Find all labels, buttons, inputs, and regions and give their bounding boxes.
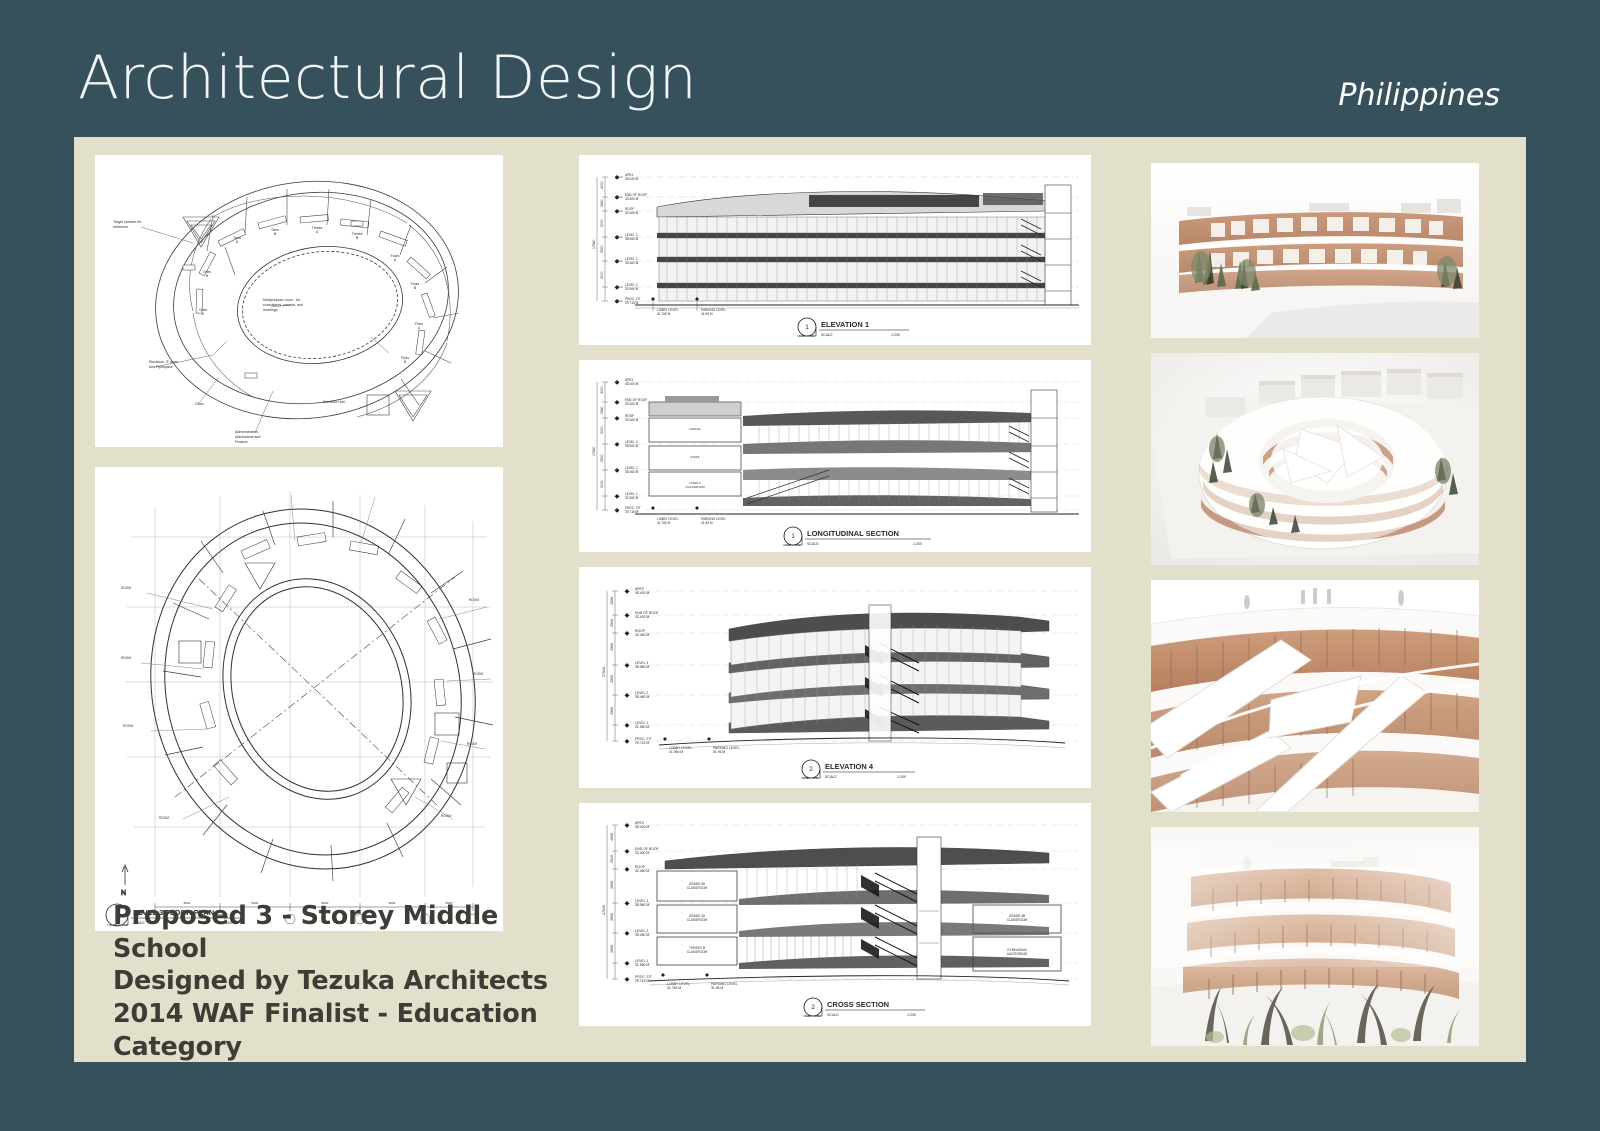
panel-longitudinal-section[interactable]: 4000 2940 3000 3500 3000 17640	[579, 360, 1091, 552]
svg-text:31.760 M: 31.760 M	[657, 312, 671, 316]
svg-text:3500: 3500	[610, 675, 614, 683]
svg-text:35.460 M: 35.460 M	[635, 695, 649, 699]
model-facade-landscape-image	[1151, 827, 1479, 1046]
svg-text:CLASSROOM: CLASSROOM	[687, 950, 708, 954]
svg-text:29.715 M: 29.715 M	[625, 510, 639, 514]
project-caption: Proposed 3 - Storey Middle School Design…	[113, 900, 573, 1063]
elevation-1-drawing: 4000 2940 3000 3500 3000 17640	[579, 155, 1091, 345]
panel-cross-section[interactable]: 4000 2940 3000 3500 3000 17640	[579, 803, 1091, 1026]
svg-text:3000: 3000	[610, 643, 614, 651]
svg-text:45.400 M: 45.400 M	[625, 382, 639, 386]
svg-text:35.460 M: 35.460 M	[635, 933, 649, 937]
svg-text:ROOM: ROOM	[121, 656, 131, 660]
svg-text:43.400 M: 43.400 M	[635, 851, 649, 855]
svg-text:4000: 4000	[600, 386, 604, 394]
svg-text:3500: 3500	[600, 245, 604, 253]
model-photos-column	[1151, 155, 1479, 1045]
svg-text:1:200: 1:200	[897, 775, 906, 779]
panel-level-3-floor-plan[interactable]: ROOM ROOM ROOM ROOM ROOM ROOM ROOM ROOM …	[95, 467, 503, 931]
svg-text:31.960 M: 31.960 M	[625, 496, 639, 500]
slide-header: Architectural Design Philippines	[0, 0, 1600, 140]
svg-text:SCALE: SCALE	[825, 775, 837, 779]
photo-model-courtyard-detail[interactable]	[1151, 580, 1479, 812]
plan-annotation-entrance-hall: Entrance Hall	[323, 400, 345, 404]
svg-text:ROOM: ROOM	[469, 598, 479, 602]
svg-text:35.460 M: 35.460 M	[625, 470, 639, 474]
upper-floor-plan-drawing: Target number for reference Multipurpose…	[95, 155, 503, 447]
svg-text:1: 1	[791, 533, 795, 540]
caption-line-1: Proposed 3 - Storey Middle School	[113, 900, 573, 965]
model-courtyard-detail-image	[1151, 580, 1479, 812]
svg-text:CLASSROOM: CLASSROOM	[1007, 918, 1028, 922]
svg-text:31.96 M: 31.96 M	[711, 986, 723, 990]
location-label: Philippines	[1338, 78, 1500, 113]
presentation-board: Target number for reference Multipurpose…	[74, 137, 1526, 1062]
longitudinal-section-drawing: 4000 2940 3000 3500 3000 17640	[579, 360, 1091, 552]
svg-text:1:200: 1:200	[913, 542, 922, 546]
svg-text:A-02: A-02	[809, 334, 815, 338]
svg-text:45.400 M: 45.400 M	[625, 177, 639, 181]
svg-text:3000: 3000	[610, 881, 614, 889]
svg-text:CROSS SECTION: CROSS SECTION	[827, 1000, 889, 1009]
svg-text:43.400 M: 43.400 M	[625, 197, 639, 201]
plan-annotation-multipurpose-3: meetings	[263, 308, 278, 312]
svg-text:17640: 17640	[602, 667, 606, 677]
svg-text:ROOM: ROOM	[467, 742, 477, 746]
model-aerial-courtyard-image	[1151, 353, 1479, 565]
caption-line-4: Category	[113, 1031, 573, 1064]
svg-text:SCALE: SCALE	[807, 542, 819, 546]
plan-annotation-electrical: Electrical, IT room	[149, 360, 178, 364]
photo-model-aerial-courtyard[interactable]	[1151, 353, 1479, 565]
svg-text:1: 1	[805, 324, 809, 331]
svg-text:29.715 M: 29.715 M	[625, 301, 639, 305]
caption-line-2: Designed by Tezuka Architects	[113, 965, 573, 998]
svg-text:ELEVATION 4: ELEVATION 4	[825, 762, 874, 771]
presentation-slide: Architectural Design Philippines	[0, 0, 1600, 1131]
svg-text:38.960 M: 38.960 M	[635, 665, 649, 669]
svg-text:42.460 M: 42.460 M	[635, 633, 649, 637]
svg-text:2940: 2940	[600, 406, 604, 414]
svg-text:N: N	[121, 890, 126, 897]
svg-text:43.400 M: 43.400 M	[635, 615, 649, 619]
svg-text:LONGITUDINAL SECTION: LONGITUDINAL SECTION	[807, 529, 899, 538]
svg-text:43.400 M: 43.400 M	[625, 402, 639, 406]
svg-text:3000: 3000	[610, 945, 614, 953]
svg-text:CLASSROOM: CLASSROOM	[685, 485, 705, 489]
plan-annotation-admin-2: Admissions and	[235, 435, 260, 439]
panel-upper-floor-plan[interactable]: Target number for reference Multipurpose…	[95, 155, 503, 447]
svg-text:3000: 3000	[600, 480, 604, 488]
cross-section-drawing: 4000 2940 3000 3500 3000 17640	[579, 803, 1091, 1026]
svg-text:42.460 M: 42.460 M	[635, 869, 649, 873]
svg-text:17640: 17640	[592, 239, 596, 249]
svg-text:SCALE: SCALE	[827, 1013, 839, 1017]
svg-text:1:200: 1:200	[907, 1013, 916, 1017]
svg-text:ROOM: ROOM	[473, 672, 483, 676]
svg-text:A-01: A-01	[799, 334, 805, 338]
svg-text:A-02: A-02	[815, 1014, 821, 1018]
svg-text:38.960 M: 38.960 M	[625, 237, 639, 241]
svg-text:31.96 M: 31.96 M	[701, 521, 713, 525]
svg-text:4000: 4000	[610, 597, 614, 605]
svg-text:3500: 3500	[600, 454, 604, 462]
svg-text:OFFICE: OFFICE	[690, 427, 701, 431]
svg-text:31.760 M: 31.760 M	[667, 986, 681, 990]
page-title: Architectural Design	[78, 48, 697, 108]
svg-text:ELEVATION 1: ELEVATION 1	[821, 320, 869, 329]
svg-text:17640: 17640	[602, 905, 606, 915]
svg-text:CLASSROOM: CLASSROOM	[687, 918, 708, 922]
svg-text:31.960 M: 31.960 M	[625, 287, 639, 291]
svg-text:3000: 3000	[600, 219, 604, 227]
floor-plans-column: Target number for reference Multipurpose…	[95, 155, 503, 1045]
level-3-floor-plan-drawing: ROOM ROOM ROOM ROOM ROOM ROOM ROOM ROOM …	[95, 467, 503, 931]
svg-text:31.960 M: 31.960 M	[635, 963, 649, 967]
svg-text:2940: 2940	[610, 619, 614, 627]
technical-drawings-column: 4000 2940 3000 3500 3000 17640	[579, 155, 1091, 1045]
svg-text:A-02: A-02	[813, 776, 819, 780]
plan-annotation-multipurpose-2: consultants, parents, and	[263, 303, 303, 307]
photo-model-facade-landscape[interactable]	[1151, 827, 1479, 1046]
panel-elevation-1[interactable]: 4000 2940 3000 3500 3000 17640	[579, 155, 1091, 345]
plan-annotation-admin: Administration,	[235, 430, 259, 434]
panel-elevation-4[interactable]: 4000 2940 3000 3500 3000 17640	[579, 567, 1091, 788]
svg-text:STAFF: STAFF	[690, 455, 699, 459]
svg-text:AUDITORIUM: AUDITORIUM	[1007, 952, 1027, 956]
svg-text:42.460 M: 42.460 M	[625, 418, 639, 422]
svg-text:38.960 M: 38.960 M	[625, 444, 639, 448]
svg-text:45.400 M: 45.400 M	[635, 591, 649, 595]
svg-text:35.460 M: 35.460 M	[625, 261, 639, 265]
svg-text:1:200: 1:200	[891, 333, 900, 337]
plan-annotation-multipurpose: Multipurpose room - for	[263, 298, 301, 302]
caption-line-3: 2014 WAF Finalist - Education	[113, 998, 573, 1031]
plan-annotation-target-number-2: reference	[113, 225, 128, 229]
svg-text:ROOM: ROOM	[123, 724, 133, 728]
svg-text:ROOM: ROOM	[121, 586, 131, 590]
svg-text:2940: 2940	[610, 855, 614, 863]
svg-text:2: 2	[811, 1004, 815, 1011]
plan-annotation-clinic: Clinic	[195, 402, 204, 406]
svg-text:A-02: A-02	[795, 543, 801, 547]
svg-text:ROOM: ROOM	[159, 816, 169, 820]
svg-text:4000: 4000	[600, 181, 604, 189]
svg-text:45.400 M: 45.400 M	[635, 825, 649, 829]
svg-text:31.96 M: 31.96 M	[713, 750, 725, 754]
model-exterior-street-image	[1151, 163, 1479, 338]
svg-text:17640: 17640	[592, 446, 596, 456]
svg-text:ROOM: ROOM	[441, 814, 451, 818]
svg-text:4000: 4000	[610, 833, 614, 841]
plan-annotation-electrical-2: and Pipespace	[149, 365, 173, 369]
svg-text:3000: 3000	[610, 707, 614, 715]
svg-text:3000: 3000	[600, 426, 604, 434]
plan-annotation-target-number: Target number for	[113, 220, 142, 224]
svg-text:38.960 M: 38.960 M	[635, 903, 649, 907]
svg-text:CLASSROOM: CLASSROOM	[687, 886, 708, 890]
svg-text:2: 2	[809, 766, 813, 773]
svg-text:2940: 2940	[600, 199, 604, 207]
svg-text:SCALE: SCALE	[821, 333, 833, 337]
svg-text:31.760 M: 31.760 M	[657, 521, 671, 525]
svg-text:29.715 M: 29.715 M	[635, 979, 649, 983]
svg-text:42.460 M: 42.460 M	[625, 211, 639, 215]
svg-text:31.960 M: 31.960 M	[669, 750, 683, 754]
svg-text:3500: 3500	[610, 913, 614, 921]
svg-text:A-01: A-01	[785, 543, 791, 547]
photo-model-exterior-street[interactable]	[1151, 163, 1479, 338]
plan-annotation-admin-3: Finance	[235, 440, 248, 444]
svg-text:29.715 M: 29.715 M	[635, 741, 649, 745]
svg-text:3000: 3000	[600, 271, 604, 279]
svg-text:31.960 M: 31.960 M	[635, 725, 649, 729]
svg-text:A-01: A-01	[803, 776, 809, 780]
svg-text:A-01: A-01	[805, 1014, 811, 1018]
elevation-4-drawing: 4000 2940 3000 3500 3000 17640	[579, 567, 1091, 788]
svg-text:31.96 M: 31.96 M	[701, 312, 713, 316]
